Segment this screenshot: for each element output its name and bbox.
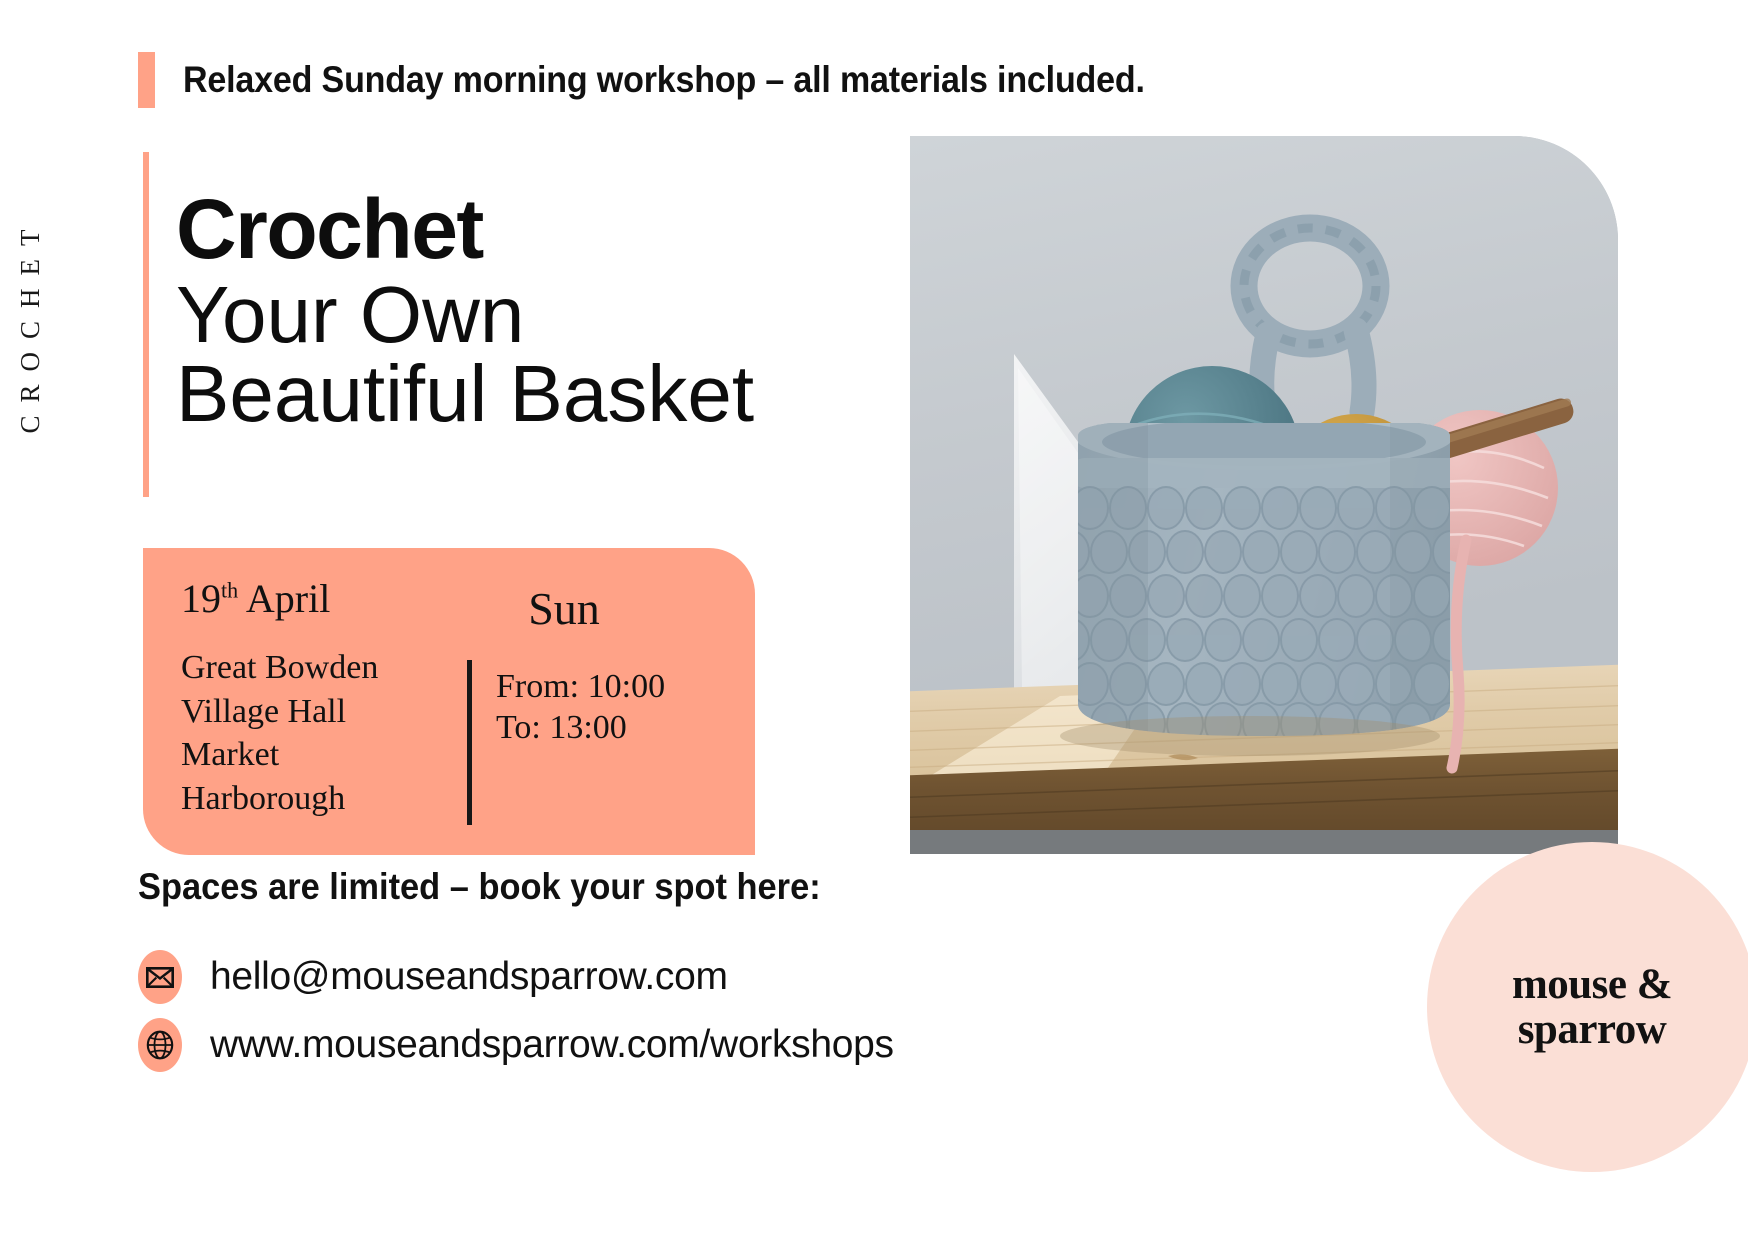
workshop-photo (910, 136, 1618, 854)
contact-row-email[interactable]: hello@mouseandsparrow.com (138, 950, 728, 1004)
header-tagline: Relaxed Sunday morning workshop – all ma… (183, 59, 1145, 101)
page-title: Crochet Your Own Beautiful Basket (176, 188, 956, 434)
event-weekday: Sun (453, 586, 755, 632)
booking-cta-text: Spaces are limited – book your spot here… (138, 866, 821, 908)
contact-website-text[interactable]: www.mouseandsparrow.com/workshops (210, 1023, 894, 1067)
venue-line-2: Village Hall (181, 690, 453, 734)
poster-canvas: Relaxed Sunday morning workshop – all ma… (0, 0, 1748, 1240)
event-time-from: From: 10:00 (496, 666, 665, 707)
venue-line-3: Market (181, 733, 453, 777)
event-details-card: 19th April Great Bowden Village Hall Mar… (143, 548, 755, 855)
header-tagline-row: Relaxed Sunday morning workshop – all ma… (138, 52, 1228, 108)
event-date: 19th April (181, 578, 453, 620)
event-month: April (246, 576, 330, 621)
event-times: From: 10:00 To: 13:00 (496, 660, 665, 749)
logo-line-2: sparrow (1518, 1008, 1667, 1052)
card-vertical-divider (467, 660, 472, 825)
envelope-icon (138, 950, 182, 1004)
venue-line-1: Great Bowden (181, 646, 453, 690)
title-line-2: Your Own (176, 275, 956, 354)
contact-row-website[interactable]: www.mouseandsparrow.com/workshops (138, 1018, 894, 1072)
event-day-suffix: th (221, 578, 238, 603)
logo-line-1: mouse & (1512, 963, 1672, 1007)
globe-icon (138, 1018, 182, 1072)
title-line-1: Crochet (176, 188, 956, 271)
title-line-3: Beautiful Basket (176, 354, 956, 433)
event-time-to: To: 13:00 (496, 707, 665, 748)
brand-logo-badge: mouse & sparrow (1427, 842, 1748, 1172)
event-date-venue: 19th April Great Bowden Village Hall Mar… (143, 548, 453, 855)
title-accent-rule (143, 152, 149, 497)
event-day-number: 19 (181, 576, 221, 621)
venue-line-4: Harborough (181, 777, 453, 821)
vertical-category-label: CROCHET (10, 185, 50, 465)
event-day-time: Sun From: 10:00 To: 13:00 (453, 548, 755, 855)
header-accent-bar (138, 52, 155, 108)
contact-email-text[interactable]: hello@mouseandsparrow.com (210, 955, 728, 999)
event-venue: Great Bowden Village Hall Market Harboro… (181, 646, 453, 820)
